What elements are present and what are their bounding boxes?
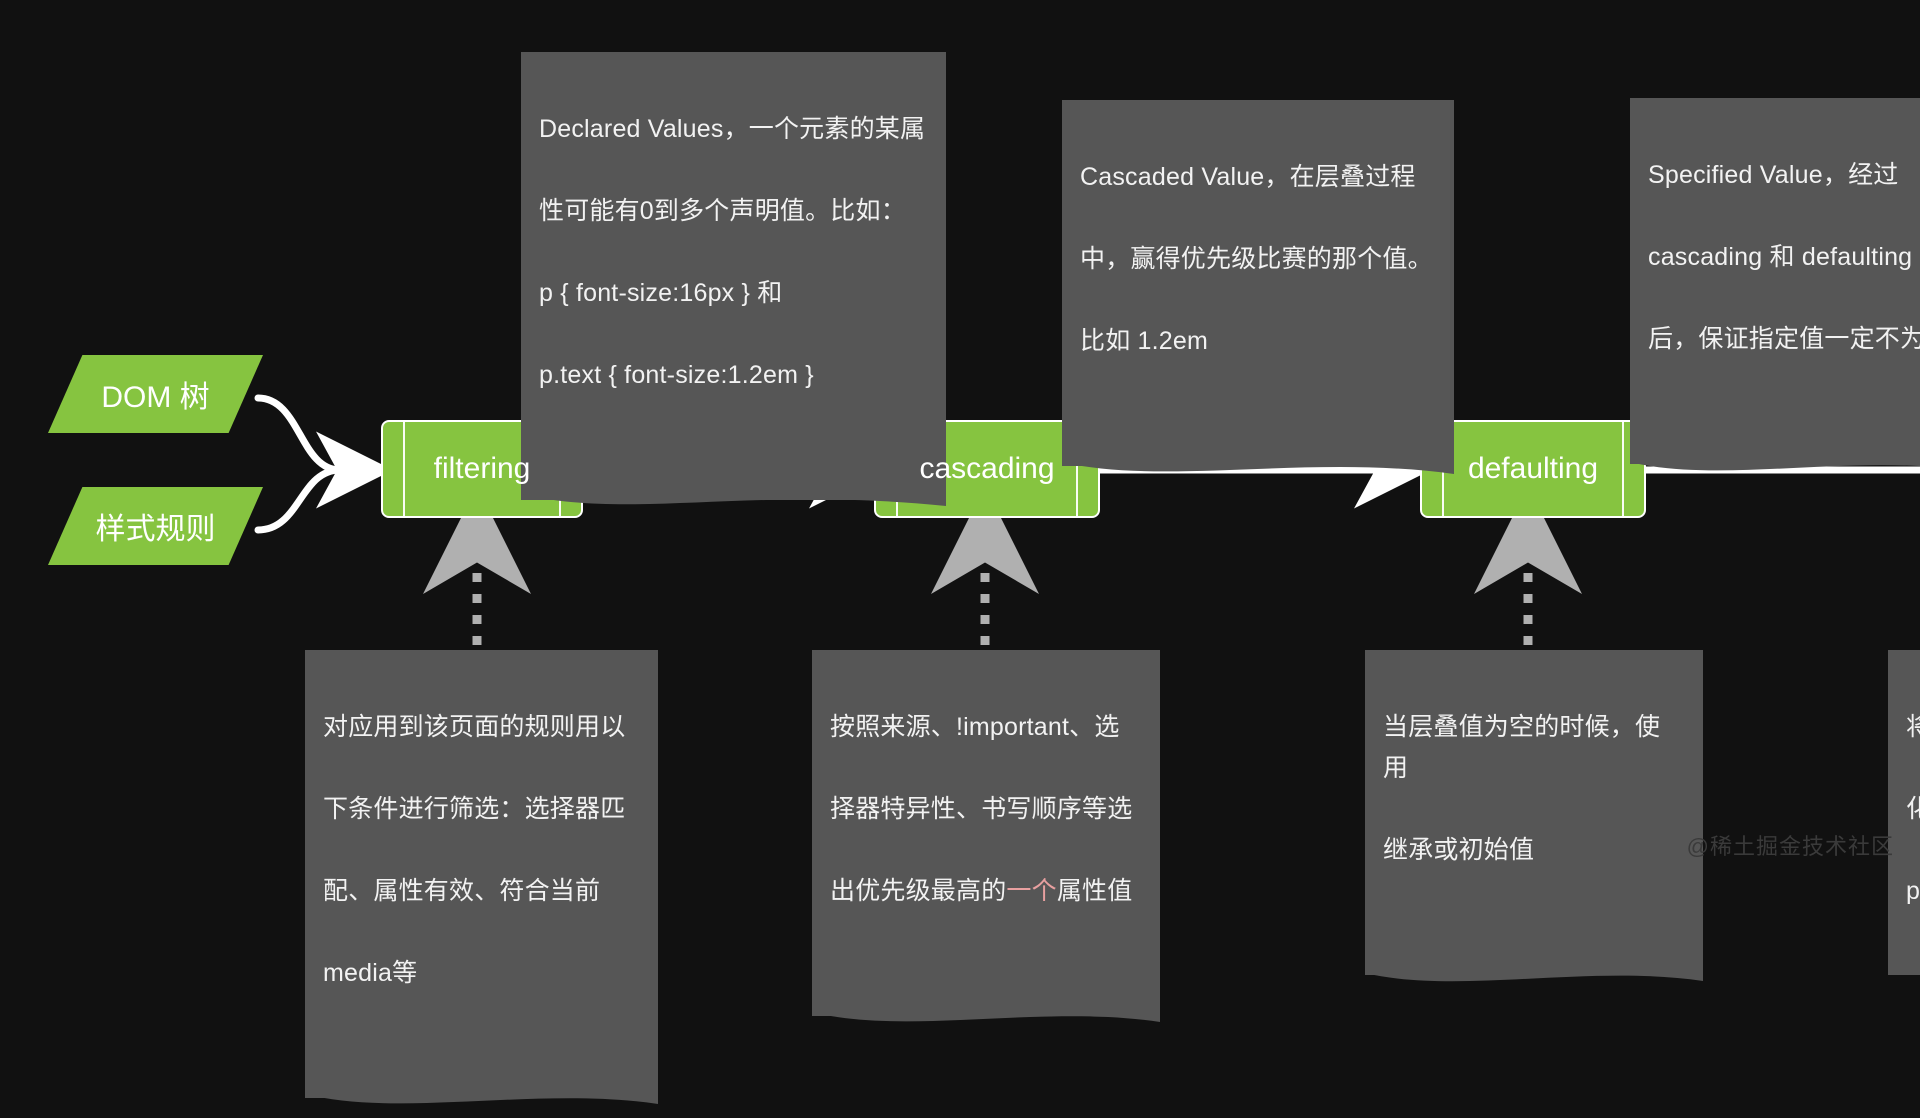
node-filtering-label: filtering	[434, 452, 531, 486]
callout-filtering: 对应用到该页面的规则用以 下条件进行筛选：选择器匹 配、属性有效、符合当前 me…	[305, 650, 658, 1098]
callout-specified-value: Specified Value，经过 cascading 和 defaultin…	[1630, 98, 1920, 464]
input-merge-lines	[258, 398, 372, 530]
highlight-fragment: 一个	[1006, 877, 1056, 905]
callout-line: 配、属性有效、符合当前	[323, 871, 640, 912]
callout-line: 按照来源、!important、选	[830, 707, 1142, 748]
callout-line: 继承或初始值	[1383, 830, 1685, 871]
diagram-canvas: DOM 树 样式规则 filtering cascading defaultin…	[0, 0, 1920, 875]
callout-line: p.text { font-size:1.2em }	[539, 355, 928, 396]
callout-line: 对应用到该页面的规则用以	[323, 707, 640, 748]
callout-declared-values: Declared Values，一个元素的某属 性可能有0到多个声明值。比如： …	[521, 52, 946, 500]
callout-line: Cascaded Value，在层叠过程	[1080, 157, 1436, 198]
node-cascading-label: cascading	[919, 452, 1054, 486]
callout-line: 下条件进行筛选：选择器匹	[323, 789, 640, 830]
callout-wave-bottom	[521, 494, 946, 520]
callout-line: 中，赢得优先级比赛的那个值。	[1080, 239, 1436, 280]
callout-line: 将	[1906, 707, 1920, 748]
callout-line: 比如 1.2em	[1080, 321, 1436, 362]
callout-line: 当层叠值为空的时候，使用	[1383, 707, 1685, 789]
filtering-left-divider	[403, 422, 405, 516]
callout-wave-bottom	[1365, 969, 1703, 995]
callout-line: media等	[323, 953, 640, 994]
callout-wave-bottom	[1062, 460, 1454, 486]
callout-cascaded-value: Cascaded Value，在层叠过程 中，赢得优先级比赛的那个值。 比如 1…	[1062, 100, 1454, 466]
watermark: @稀土掘金技术社区	[1687, 829, 1894, 861]
callout-line-highlighted: 出优先级最高的一个属性值	[830, 871, 1142, 912]
node-dom-tree[interactable]: DOM 树	[48, 355, 263, 433]
callout-line: cascading 和 defaulting	[1648, 237, 1920, 278]
node-style-rules-label: 样式规则	[96, 504, 216, 548]
callout-defaulting: 当层叠值为空的时候，使用 继承或初始值	[1365, 650, 1703, 975]
callout-computed-value: 将 化 px	[1888, 650, 1920, 975]
callout-wave-bottom	[812, 1010, 1160, 1036]
defaulting-right-divider	[1622, 422, 1624, 516]
callout-cascading: 按照来源、!important、选 择器特异性、书写顺序等选 出优先级最高的一个…	[812, 650, 1160, 1016]
callout-wave-bottom	[305, 1092, 658, 1118]
callout-line: 择器特异性、书写顺序等选	[830, 789, 1142, 830]
callout-line: p { font-size:16px } 和	[539, 273, 928, 314]
callout-wave-bottom	[1630, 458, 1920, 484]
node-style-rules[interactable]: 样式规则	[48, 487, 263, 565]
node-dom-tree-label: DOM 树	[101, 372, 209, 416]
node-defaulting-label: defaulting	[1468, 452, 1598, 486]
callout-line: 化	[1906, 789, 1920, 830]
callout-line: 后，保证指定值一定不为	[1648, 319, 1920, 360]
callout-line: Declared Values，一个元素的某属	[539, 109, 928, 150]
callout-line: Specified Value，经过	[1648, 155, 1920, 196]
bottom-dotted-arrows	[477, 540, 1528, 645]
callout-line: 性可能有0到多个声明值。比如：	[539, 191, 928, 232]
callout-line: px	[1906, 871, 1920, 912]
